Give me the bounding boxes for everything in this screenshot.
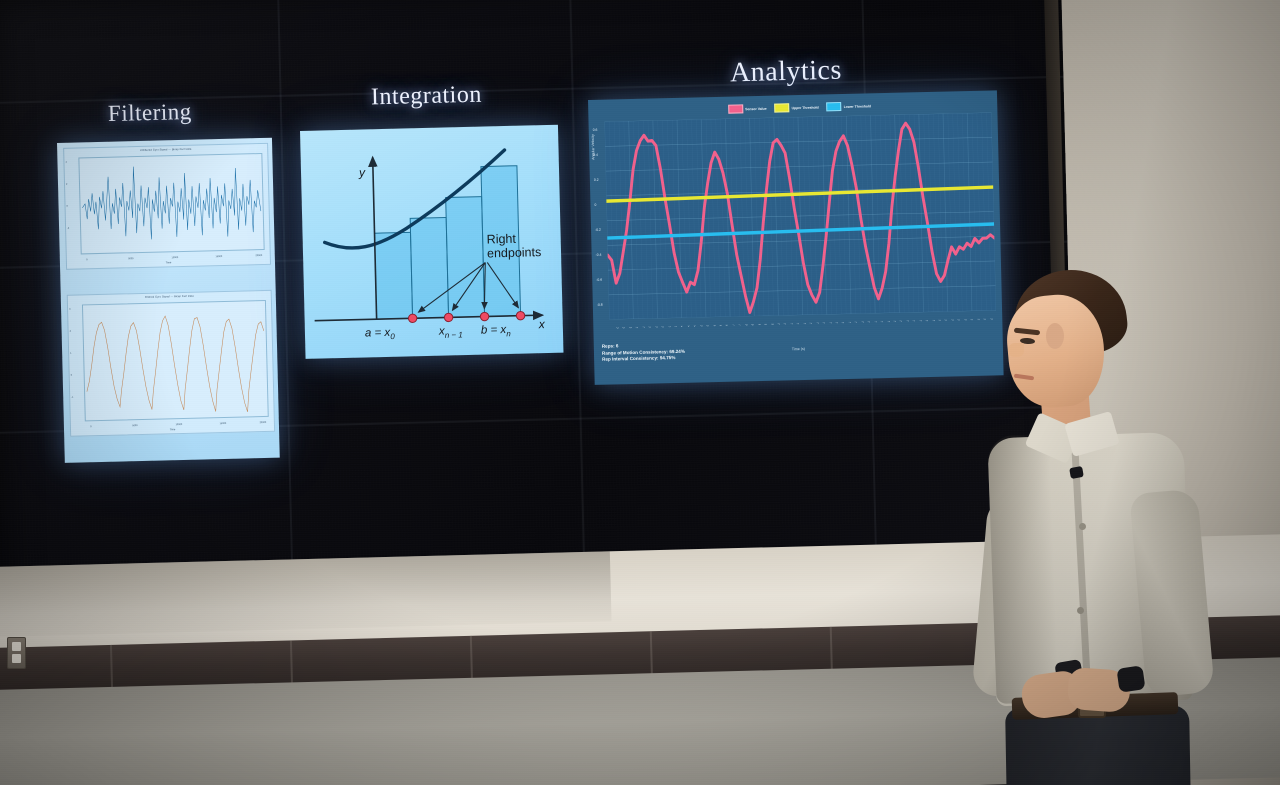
x-tick-label-a: a = x0 <box>365 327 395 342</box>
y-tick: -0.6 <box>596 278 602 282</box>
slide-integration: y x Right endpoints a = x0 xn − 1 b = xn <box>300 125 563 359</box>
right-endpoints-annotation-line1: Right <box>487 232 517 247</box>
chart-unfiltered-signal: Unfiltered Gyro Signal — Bicep Curl Data… <box>63 143 271 270</box>
presenter-shirt-shading <box>987 434 1058 704</box>
y-tick: 4 <box>65 161 66 164</box>
plot-area <box>82 300 269 421</box>
legend-item-sensor-value: Sensor Value <box>728 104 766 114</box>
presenter-ear <box>1046 323 1064 349</box>
x-tick: 8.4 <box>751 320 757 326</box>
x-tick: 14.8 <box>854 318 860 323</box>
x-tick: 15.6 <box>866 318 872 323</box>
filtered-signal-svg <box>83 301 268 420</box>
presenter-shirt-button <box>1079 523 1086 530</box>
legend-item-lower-threshold: Lower Threshold <box>827 101 872 111</box>
x-axis-label: Time <box>67 259 270 267</box>
presenter-shirt-button <box>1077 607 1084 614</box>
y-tick: -0.2 <box>595 228 601 232</box>
x-tick: 4.8 <box>693 322 699 328</box>
y-tick: 3 <box>69 308 70 311</box>
y-tick: -2 <box>67 227 69 230</box>
legend-swatch-icon <box>774 103 789 112</box>
x-tick: 6.0 <box>712 321 718 327</box>
x-tick: 11.6 <box>802 318 808 324</box>
presenter-wristwatch <box>1116 665 1145 692</box>
presenter <box>950 255 1270 785</box>
x-tick: 10.8 <box>789 318 795 325</box>
x-tick: 19.2 <box>924 318 930 321</box>
x-tick: 10000 <box>176 423 183 426</box>
x-tick: 7.2 <box>731 321 737 327</box>
slide-analytics: Sensor Value Upper Threshold Lower Thres… <box>588 90 1004 385</box>
x-tick: 18.8 <box>918 318 924 322</box>
panel-title-analytics: Analytics <box>730 55 843 90</box>
x-tick: 0.0 <box>615 323 621 329</box>
power-outlet-icon <box>7 637 26 669</box>
x-tick: 12.4 <box>815 318 821 324</box>
x-tick: 0 <box>90 425 91 428</box>
x-tick: 1.2 <box>635 323 641 329</box>
plot-area <box>78 153 264 254</box>
y-tick: 0.2 <box>594 178 599 182</box>
x-axis-label: Time <box>71 426 274 434</box>
riemann-sum-diagram <box>300 125 563 359</box>
x-tick: 5.2 <box>699 321 705 327</box>
x-tick: 10.4 <box>783 318 789 325</box>
x-tick: 15000 <box>215 255 222 258</box>
x-tick: 7.6 <box>738 321 744 327</box>
legend-label: Lower Threshold <box>844 104 871 109</box>
x-tick: 8.8 <box>757 320 763 326</box>
x-tick: 8.0 <box>744 320 750 326</box>
x-tick: 2.4 <box>654 323 660 329</box>
analytics-stats: Reps: 6 Range of Motion Consistency: 69.… <box>602 342 685 364</box>
y-tick: 0 <box>71 374 72 377</box>
y-tick: 0.6 <box>593 128 598 132</box>
y-tick: -1 <box>71 396 73 399</box>
x-tick: 1.6 <box>641 323 647 329</box>
y-tick: -0.8 <box>597 303 603 307</box>
x-tick: 2.8 <box>660 322 666 328</box>
analytics-plot-area <box>605 112 997 319</box>
panel-title-filtering: Filtering <box>108 99 192 127</box>
presenter-nose <box>1008 343 1024 357</box>
lapel-microphone-icon <box>1069 466 1084 479</box>
y-tick: 0 <box>594 203 596 207</box>
y-tick: 0.4 <box>593 153 598 157</box>
legend-label: Upper Threshold <box>791 105 818 110</box>
x-tick: 2.0 <box>648 323 654 329</box>
x-tick: 4.0 <box>680 322 686 328</box>
x-tick: 12.8 <box>821 318 827 324</box>
y-tick: 0 <box>67 205 68 208</box>
panel-title-integration: Integration <box>371 82 482 112</box>
x-tick: 15000 <box>220 422 227 425</box>
y-tick: 2 <box>70 330 71 333</box>
x-tick: 5000 <box>132 424 137 427</box>
x-tick: 12.0 <box>809 318 815 324</box>
y-tick: 2 <box>66 183 67 186</box>
x-tick: 0.8 <box>628 323 634 329</box>
x-tick: 9.6 <box>770 320 776 326</box>
x-tick: 16.4 <box>879 318 885 323</box>
x-tick: 11.2 <box>796 318 802 324</box>
y-tick: 1 <box>70 352 71 355</box>
chart-legend: Sensor Value Upper Threshold Lower Thres… <box>728 101 871 113</box>
x-tick: 10000 <box>171 256 178 259</box>
legend-item-upper-threshold: Upper Threshold <box>774 103 818 113</box>
x-tick: 20000 <box>260 421 267 424</box>
x-tick: 0 <box>86 258 87 261</box>
x-tick: 5000 <box>128 257 133 260</box>
stat-rep-interval-consistency: Rep Interval Consistency: 94.75% <box>602 355 685 364</box>
x-tick: 20000 <box>255 254 262 257</box>
x-tick: 3.2 <box>667 322 673 328</box>
x-tick: 3.6 <box>673 322 679 328</box>
x-tick: 9.2 <box>763 320 769 326</box>
x-tick: 10.0 <box>776 318 782 325</box>
y-tick: -0.4 <box>596 253 602 257</box>
x-axis-label: x <box>539 317 545 331</box>
legend-swatch-icon <box>728 104 743 113</box>
slide-filtering: Unfiltered Gyro Signal — Bicep Curl Data… <box>57 138 280 463</box>
x-tick: 17.6 <box>899 318 905 322</box>
unfiltered-signal-svg <box>79 154 263 253</box>
x-tick: 0.4 <box>622 323 628 329</box>
right-endpoints-annotation-line2: endpoints <box>487 245 542 260</box>
x-tick-label-b: b = xn <box>481 324 511 339</box>
rep-tracking-chart-svg <box>605 112 997 319</box>
chart-filtered-signal: Filtered Gyro Signal — Bicep Curl Data 3… <box>67 290 275 437</box>
legend-swatch-icon <box>827 102 842 111</box>
x-tick: 18.4 <box>912 318 918 322</box>
x-tick: 5.6 <box>705 321 711 327</box>
x-tick: 6.8 <box>725 321 731 327</box>
x-tick-label-xn1: xn − 1 <box>439 325 463 340</box>
x-tick: 6.4 <box>718 321 724 327</box>
y-axis-label: y <box>359 165 365 179</box>
x-tick: 14.0 <box>841 318 847 323</box>
x-tick: 4.4 <box>686 322 692 328</box>
legend-label: Sensor Value <box>745 106 766 111</box>
presentation-scene: Filtering Integration Analytics Unfilter… <box>0 0 1280 785</box>
x-tick: 13.2 <box>828 318 834 324</box>
